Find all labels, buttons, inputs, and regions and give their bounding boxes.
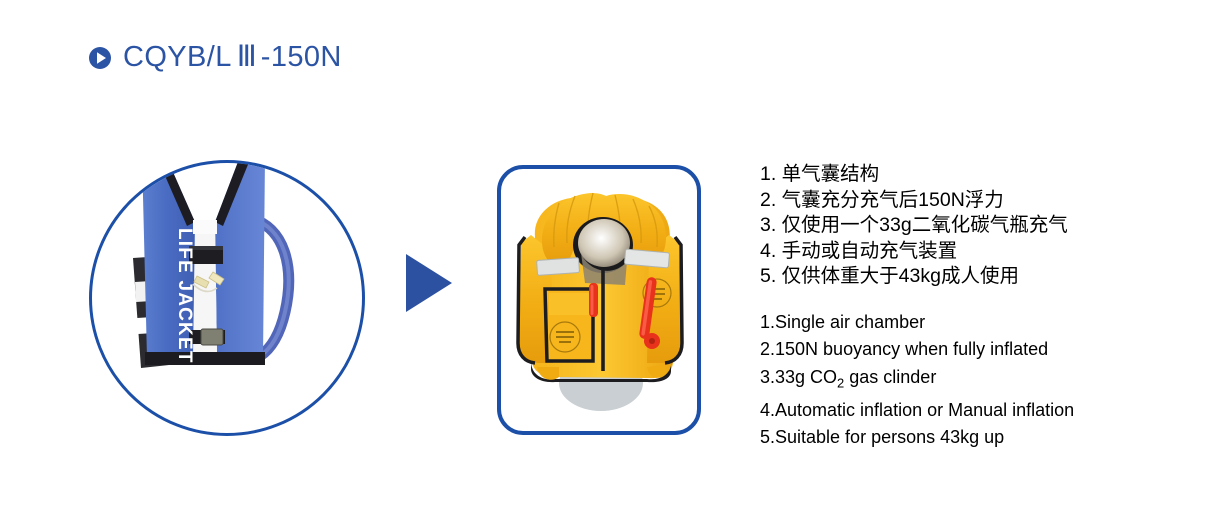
- spec-item-cn-2: 2. 气囊充分充气后150N浮力: [760, 188, 1180, 214]
- spec-item-en-2: 2.150N buoyancy when fully inflated: [760, 336, 1180, 364]
- page-title-bar: CQYB/LⅢ-150N: [88, 43, 342, 72]
- figure-deflated-life-jacket: LIFE JACKET: [89, 160, 365, 436]
- spec-item-en-1: 1.Single air chamber: [760, 309, 1180, 337]
- spec-list-chinese: 1. 单气囊结构 2. 气囊充分充气后150N浮力 3. 仅使用一个33g二氧化…: [760, 162, 1180, 290]
- spec-item-en-4: 4.Automatic inflation or Manual inflatio…: [760, 397, 1180, 425]
- specification-panel: 1. 单气囊结构 2. 气囊充分充气后150N浮力 3. 仅使用一个33g二氧化…: [760, 162, 1180, 452]
- inflated-life-jacket-illustration: [497, 165, 701, 435]
- spec-item-en-3-after: gas clinder: [844, 367, 936, 387]
- spec-item-cn-3: 3. 仅使用一个33g二氧化碳气瓶充气: [760, 213, 1180, 239]
- spec-item-en-5: 5.Suitable for persons 43kg up: [760, 424, 1180, 452]
- svg-text:LIFE JACKET: LIFE JACKET: [174, 228, 195, 364]
- spec-list-english: 1.Single air chamber 2.150N buoyancy whe…: [760, 309, 1180, 452]
- play-circle-icon: [88, 46, 112, 70]
- page-title: CQYB/LⅢ-150N: [123, 43, 342, 72]
- deflated-life-jacket-illustration: LIFE JACKET: [89, 160, 365, 436]
- page-title-prefix: CQYB/L: [123, 41, 232, 73]
- spec-item-cn-4: 4. 手动或自动充气装置: [760, 239, 1180, 265]
- page-title-roman: Ⅲ: [232, 41, 261, 73]
- right-triangle-icon: [404, 252, 456, 314]
- process-arrow: [404, 252, 456, 319]
- spec-item-cn-5: 5. 仅供体重大于43kg成人使用: [760, 264, 1180, 290]
- spec-item-en-3-before: 3.33g CO: [760, 367, 837, 387]
- spec-item-cn-1: 1. 单气囊结构: [760, 162, 1180, 188]
- figure-inflated-life-jacket: [497, 165, 701, 435]
- spec-item-en-3: 3.33g CO2 gas clinder: [760, 364, 1180, 397]
- page-title-suffix: -150N: [261, 41, 342, 73]
